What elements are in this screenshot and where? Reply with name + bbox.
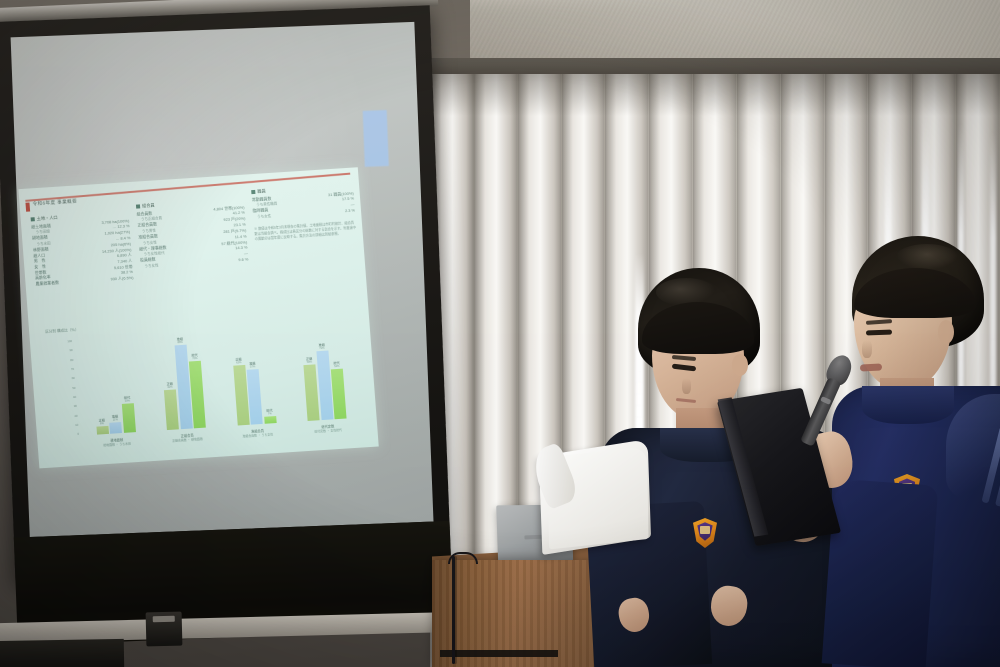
bar-value: 8% (99, 422, 105, 425)
eye (866, 330, 892, 336)
bar-label: 正組62% (235, 357, 242, 365)
x-axis-label: 耕地面積総地面積 ・ うち水田 (94, 436, 141, 455)
bar-value: 57% (249, 366, 255, 369)
y-axis-tick: 70 (71, 368, 74, 371)
rail-clip (146, 612, 183, 647)
chart-bar: 総代52% (331, 369, 347, 420)
arm (822, 479, 939, 667)
y-axis-tick: 80 (70, 359, 73, 362)
bar-label: 准組72% (318, 342, 325, 350)
chart-bar-group: 正組8%准組11%総代30% (90, 336, 136, 434)
ear (732, 354, 748, 376)
y-axis-tick: 40 (73, 396, 76, 399)
nose (682, 378, 691, 394)
rail-clip-marker (153, 616, 175, 623)
bar-label: 准組11% (112, 414, 119, 422)
bar-value: 11% (112, 419, 118, 422)
screen-frame: 令和6年度 事業概要 土地・人口総土地面積3,708 ha(100%)うち田畑…… (0, 5, 451, 581)
y-axis-tick: 100 (67, 340, 72, 343)
bar-value: 42% (167, 385, 173, 388)
ear (938, 320, 954, 344)
x-axis-label: 正組合員正組合員数 ・ 耕地面積 (164, 431, 211, 450)
school-crest-icon (693, 518, 717, 548)
bar-value: 72% (319, 347, 325, 350)
slide-column-staff: 職員常勤職員数31 職員(100%)うち男性職員17.5 %臨時職員—うち女性2… (251, 183, 357, 242)
y-axis-tick: 50 (72, 386, 75, 389)
section-bullet-icon (251, 190, 255, 194)
y-axis-tick: 10 (75, 424, 78, 427)
bar-value: 70% (192, 357, 198, 360)
section-bullet-icon (136, 204, 140, 208)
slide-column-members: 組合員組合員数4,804 世帯(100%)うち正組合員41.2 %正組合員数92… (136, 197, 249, 270)
bar-label: 総代30% (124, 395, 131, 403)
slide-title-marker (25, 203, 30, 212)
y-axis-tick: 30 (74, 405, 77, 408)
chart-plot-area: 正組8%准組11%総代30%正組42%准組88%総代70%正組62%准組57%総… (74, 322, 363, 436)
blind-top-shadow (430, 58, 1000, 116)
nose (862, 340, 872, 358)
chart-bar: 総代7% (264, 416, 276, 423)
projector-screen: 令和6年度 事業概要 土地・人口総土地面積3,708 ha(100%)うち田畑…… (0, 4, 454, 604)
bar-value: 88% (177, 340, 183, 343)
bar-label: 正組58% (306, 356, 313, 364)
row-label: 農業就業者数 (35, 280, 59, 287)
chart-bar: 正組8% (96, 426, 109, 434)
bar-value: 7% (267, 413, 273, 416)
bar-value: 30% (124, 400, 130, 403)
chart-bar: 総代30% (122, 403, 136, 432)
chart-bar-group: 正組58%准組72%総代52% (301, 323, 347, 421)
bar-value: 62% (236, 362, 242, 365)
crest-mark (700, 526, 710, 534)
row-value: 2.3 % (345, 207, 355, 213)
bar-label: 総代52% (333, 360, 340, 368)
section-heading-text: 職員 (257, 188, 266, 194)
section-bullet-icon (31, 217, 35, 221)
floor-equipment (0, 639, 124, 667)
bar-label: 総代7% (266, 408, 273, 416)
slide-accent-block (363, 110, 389, 167)
chart-bar: 正組42% (164, 389, 179, 430)
slide-bar-chart: 区分別 構成比（％） 1009080706050403020100 正組8%准組… (46, 316, 367, 460)
bar-value: 58% (306, 361, 312, 364)
section-heading-text: 組合員 (142, 202, 155, 208)
presenter-right (838, 236, 1000, 667)
y-axis-tick: 0 (77, 433, 79, 436)
y-axis-tick: 60 (72, 377, 75, 380)
bar-value: 52% (334, 365, 340, 368)
section-heading-text: 土地・人口 (37, 215, 58, 221)
bar-label: 准組57% (249, 361, 256, 369)
y-axis-tick: 20 (74, 414, 77, 417)
chart-bar: 准組57% (247, 369, 263, 424)
row-value: 930 人(6.5%) (110, 275, 133, 282)
y-axis-tick: 90 (69, 349, 72, 352)
presentation-photo-scene: 令和6年度 事業概要 土地・人口総土地面積3,708 ha(100%)うち田畑…… (0, 0, 1000, 667)
chart-bar: 准組11% (109, 422, 122, 433)
chart-bar-group: 正組62%准組57%総代7% (230, 327, 276, 425)
jacket-collar (862, 386, 954, 424)
slide-footnote: ※ 数値は令和6年3月末現在の集計値。土地面積は市町村統計、組合員数は当組合調べ… (254, 220, 357, 241)
chart-bar-group: 正組42%准組88%総代70% (160, 332, 206, 430)
x-axis-label: 准組合員准組合員数 ・ うち女性 (234, 427, 281, 446)
x-axis-label: 総代定数総代定数 ・ 女性総代 (305, 422, 352, 441)
lectern-stripe (440, 650, 558, 657)
slide-column-land: 土地・人口総土地面積3,708 ha(100%)うち田畑… 12.3 %耕地面積… (31, 210, 134, 287)
power-cable (452, 556, 455, 664)
row-label: うち女性 (253, 214, 271, 220)
row-label: うち女性 (140, 263, 158, 269)
chart-title: 区分別 構成比（％） (45, 328, 79, 335)
projected-slide: 令和6年度 事業概要 土地・人口総土地面積3,708 ha(100%)うち田畑…… (18, 167, 378, 468)
bar-label: 総代70% (191, 352, 198, 360)
bar-label: 准組88% (177, 335, 184, 343)
mouth (860, 363, 882, 371)
bar-label: 正組42% (166, 380, 173, 388)
bar-label: 正組8% (98, 417, 105, 425)
row-value: 9.6 % (238, 257, 248, 263)
